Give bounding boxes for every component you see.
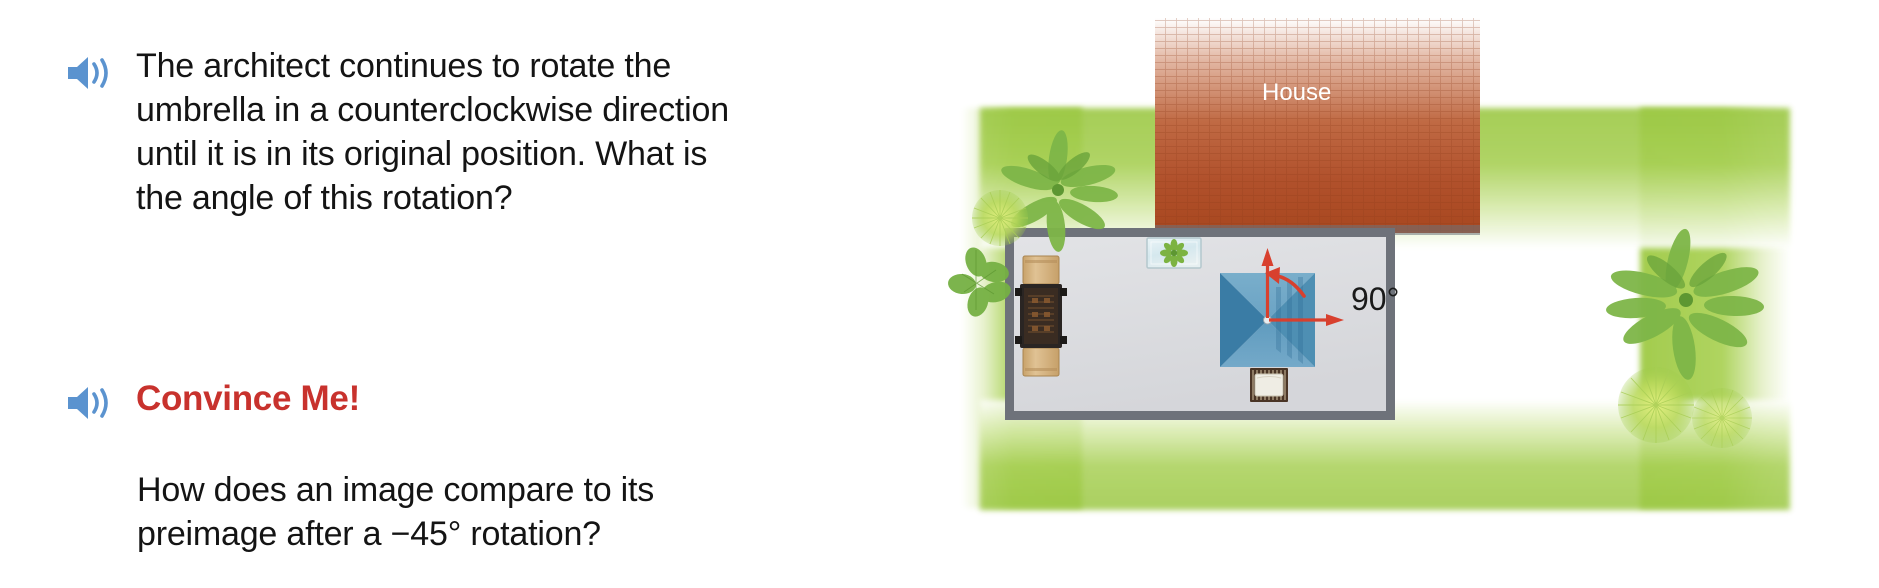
slide-page: The architect continues to rotate the um… <box>0 0 1879 588</box>
speaker-icon[interactable] <box>66 53 114 93</box>
lounge-chair <box>1250 368 1288 402</box>
speaker-icon[interactable] <box>66 383 114 423</box>
house-roof: House <box>1155 18 1480 235</box>
convince-me-text: How does an image compare to its preimag… <box>137 468 654 556</box>
text-column: The architect continues to rotate the um… <box>0 0 940 588</box>
glass-table <box>1147 238 1201 268</box>
grass-tuft-right <box>1692 388 1752 448</box>
patio-illustration: House <box>940 0 1879 588</box>
question-block: The architect continues to rotate the um… <box>66 44 729 220</box>
convince-me-block: Convince Me! <box>66 378 360 423</box>
house-label: House <box>1262 79 1331 106</box>
convince-me-heading: Convince Me! <box>136 378 360 420</box>
grill <box>1015 256 1067 376</box>
patio-diagram-svg: House <box>940 0 1879 588</box>
grass-tuft-left <box>972 190 1028 246</box>
grass-tuft-right <box>1618 367 1694 443</box>
question-text: The architect continues to rotate the um… <box>136 44 729 220</box>
convince-me-question-block: How does an image compare to its preimag… <box>137 468 654 556</box>
angle-label: 90° <box>1351 281 1399 317</box>
